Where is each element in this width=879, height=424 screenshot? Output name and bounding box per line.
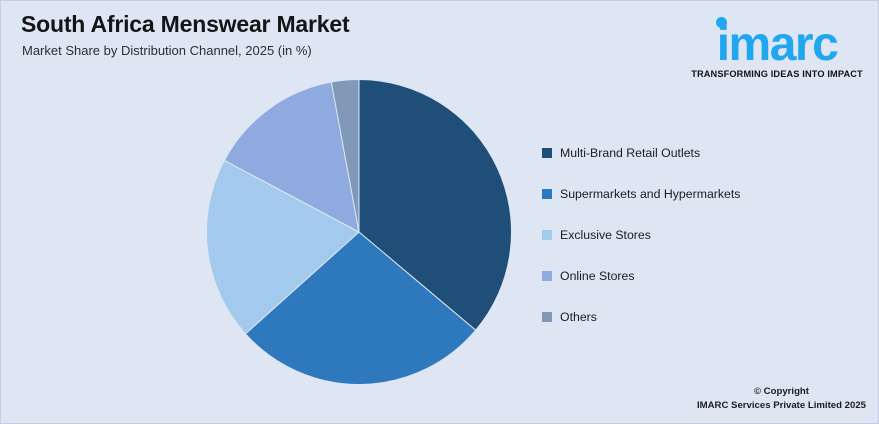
- legend-swatch-icon: [542, 230, 552, 240]
- legend-item-label: Exclusive Stores: [560, 228, 651, 242]
- legend-item-label: Others: [560, 310, 597, 324]
- logo-tagline: TRANSFORMING IDEAS INTO IMPACT: [684, 69, 870, 79]
- page-subtitle: Market Share by Distribution Channel, 20…: [22, 43, 312, 58]
- page-title: South Africa Menswear Market: [21, 11, 349, 38]
- copyright-line: © Copyright: [697, 385, 866, 399]
- legend-item-label: Supermarkets and Hypermarkets: [560, 187, 740, 201]
- legend-swatch-icon: [542, 189, 552, 199]
- legend-swatch-icon: [542, 148, 552, 158]
- pie-chart: [206, 79, 512, 385]
- company-line: IMARC Services Private Limited 2025: [697, 399, 866, 413]
- logo-wordmark: imarc: [684, 21, 870, 69]
- imarc-logo: imarc TRANSFORMING IDEAS INTO IMPACT: [684, 9, 870, 79]
- legend-item-label: Multi-Brand Retail Outlets: [560, 146, 700, 160]
- legend-swatch-icon: [542, 271, 552, 281]
- pie-chart-svg: [206, 79, 512, 385]
- legend-item[interactable]: Others: [542, 297, 842, 338]
- chart-legend: Multi-Brand Retail OutletsSupermarkets a…: [542, 132, 842, 338]
- footer-copyright: © Copyright IMARC Services Private Limit…: [697, 385, 866, 413]
- legend-item[interactable]: Supermarkets and Hypermarkets: [542, 173, 842, 214]
- legend-item[interactable]: Multi-Brand Retail Outlets: [542, 132, 842, 173]
- legend-item[interactable]: Online Stores: [542, 256, 842, 297]
- legend-item[interactable]: Exclusive Stores: [542, 214, 842, 255]
- legend-swatch-icon: [542, 312, 552, 322]
- infographic-canvas: South Africa Menswear Market Market Shar…: [0, 0, 879, 424]
- legend-item-label: Online Stores: [560, 269, 635, 283]
